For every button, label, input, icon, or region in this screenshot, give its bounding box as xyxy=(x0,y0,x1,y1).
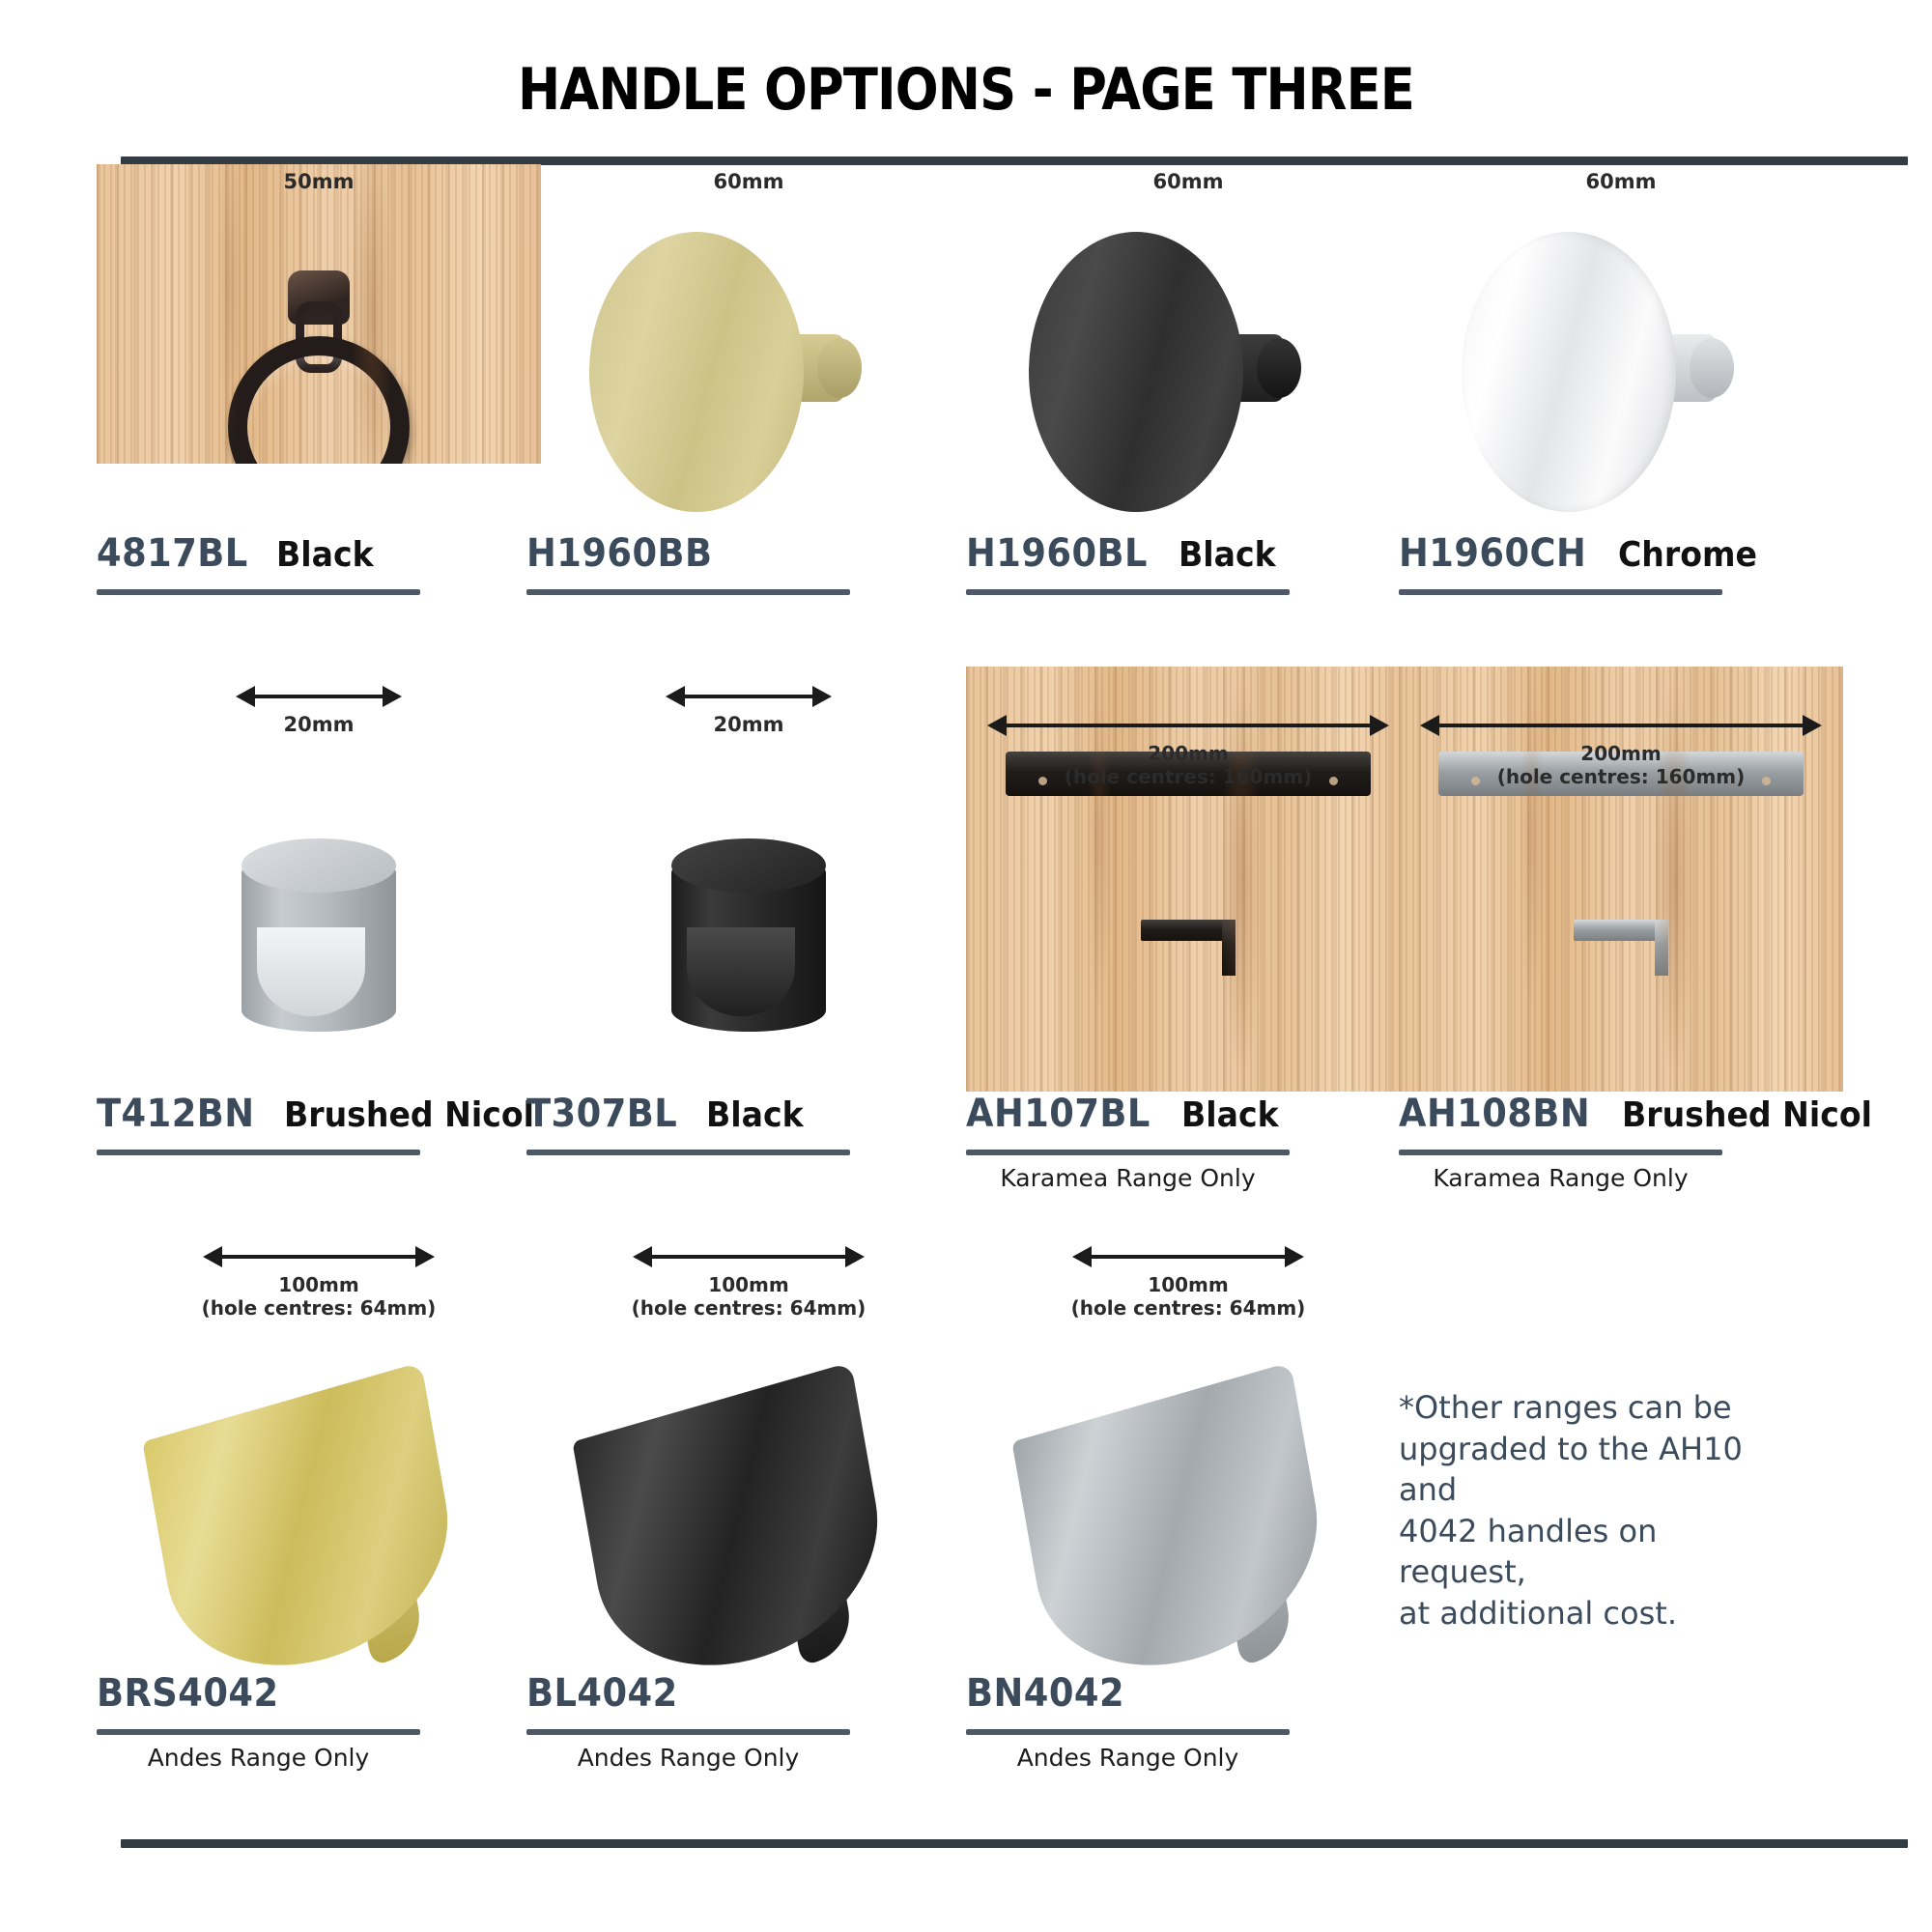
product-photo-h1960bb xyxy=(526,164,971,464)
dimension-label-h1960ch: 60mm xyxy=(1399,170,1843,195)
dimension-label-ah108bn: 200mm (hole centres: 160mm) xyxy=(1399,713,1843,789)
product-row-2: 20mm T412BN Brushed Nicol xyxy=(0,667,1932,1217)
caption-ah108bn: AH108BN Brushed Nicol Karamea Range Only xyxy=(1399,1092,1843,1192)
dimension-arrow-icon xyxy=(203,1244,435,1269)
dimension-arrow-icon xyxy=(1072,1244,1304,1269)
caption-t307bl: T307BL Black xyxy=(526,1092,971,1155)
product-finish: Black xyxy=(1179,535,1276,575)
dimension-label-h1960bl: 60mm xyxy=(966,170,1410,195)
product-photo-bl4042 xyxy=(526,1343,971,1642)
caption-underline xyxy=(526,589,850,595)
caption-h1960bb: H1960BB xyxy=(526,531,971,595)
cup-handle-face xyxy=(142,1362,466,1698)
caption-underline xyxy=(966,1729,1290,1735)
product-photo-4817bl: 50mm xyxy=(97,164,541,464)
caption-underline xyxy=(1399,1150,1722,1155)
disc-knob-stem-end xyxy=(1690,338,1734,398)
product-code: BRS4042 xyxy=(97,1671,279,1716)
cup-handle-graphic xyxy=(589,1401,908,1690)
edge-pull-graphic xyxy=(1141,920,1236,976)
product-photo-ah107bl: 200mm (hole centres: 160mm) xyxy=(966,667,1410,1092)
caption-underline xyxy=(1399,589,1722,595)
product-code: H1960CH xyxy=(1399,531,1586,576)
caption-ah107bl: AH107BL Black Karamea Range Only xyxy=(966,1092,1410,1192)
cup-handle-graphic xyxy=(1029,1401,1348,1690)
ring-pull-graphic xyxy=(237,270,401,464)
dimension-arrow-icon xyxy=(666,684,832,709)
product-card-t412bn[interactable]: 20mm T412BN Brushed Nicol xyxy=(97,667,541,1217)
cup-handle-face xyxy=(1011,1362,1335,1698)
range-note: Andes Range Only xyxy=(526,1744,850,1772)
cylinder-knob-top xyxy=(241,838,396,893)
cylinder-knob-graphic xyxy=(671,838,826,1046)
product-code: BL4042 xyxy=(526,1671,678,1716)
range-note: Karamea Range Only xyxy=(966,1164,1290,1192)
bottom-divider-rule xyxy=(121,1839,1908,1848)
dimension-arrow-icon xyxy=(236,684,402,709)
caption-4817bl: 4817BL Black xyxy=(97,531,541,595)
product-card-h1960ch[interactable]: 60mm H1960CH Chrome xyxy=(1399,164,1843,667)
disc-knob-face xyxy=(589,232,804,512)
product-finish: Black xyxy=(706,1095,804,1135)
ring-pull-ring xyxy=(228,336,410,464)
disc-knob-graphic xyxy=(1462,232,1780,512)
product-photo-ah108bn: 200mm (hole centres: 160mm) xyxy=(1399,667,1843,1092)
caption-brs4042: BRS4042 Andes Range Only xyxy=(97,1671,541,1772)
range-note: Andes Range Only xyxy=(966,1744,1290,1772)
dimension-arrow-icon xyxy=(633,1244,865,1269)
caption-t412bn: T412BN Brushed Nicol xyxy=(97,1092,541,1155)
caption-bl4042: BL4042 Andes Range Only xyxy=(526,1671,971,1772)
product-code: H1960BB xyxy=(526,531,713,576)
product-card-h1960bb[interactable]: 60mm H1960BB xyxy=(526,164,971,667)
disc-knob-stem-end xyxy=(1257,338,1301,398)
dimension-arrow-icon xyxy=(1420,713,1822,738)
dimension-label-bl4042: 100mm (hole centres: 64mm) xyxy=(526,1244,971,1321)
range-note: Andes Range Only xyxy=(97,1744,420,1772)
dimension-label-ah107bl: 200mm (hole centres: 160mm) xyxy=(966,713,1410,789)
caption-h1960ch: H1960CH Chrome xyxy=(1399,531,1843,595)
product-code: AH107BL xyxy=(966,1092,1151,1136)
product-card-t307bl[interactable]: 20mm T307BL Black xyxy=(526,667,971,1217)
edge-pull-graphic xyxy=(1574,920,1668,976)
caption-underline xyxy=(966,589,1290,595)
product-card-4817bl[interactable]: 50mm 4817BL Black xyxy=(97,164,541,667)
product-row-1: 50mm 4817BL Black xyxy=(0,164,1932,667)
product-photo-h1960bl xyxy=(966,164,1410,464)
product-finish: Black xyxy=(1181,1095,1279,1135)
product-code: BN4042 xyxy=(966,1671,1124,1716)
product-finish: Brushed Nicol xyxy=(1622,1095,1872,1135)
product-code: T307BL xyxy=(526,1092,677,1136)
product-code: T412BN xyxy=(97,1092,255,1136)
disc-knob-face xyxy=(1462,232,1676,512)
dimension-label-brs4042: 100mm (hole centres: 64mm) xyxy=(97,1244,541,1321)
dimension-label-4817bl: 50mm xyxy=(97,170,541,195)
product-card-bl4042[interactable]: 100mm (hole centres: 64mm) BL4042 Ande xyxy=(526,1217,971,1816)
disc-knob-graphic xyxy=(589,232,908,512)
product-photo-brs4042 xyxy=(97,1343,541,1642)
caption-h1960bl: H1960BL Black xyxy=(966,531,1410,595)
product-card-brs4042[interactable]: 100mm (hole centres: 64mm) BRS4042 And xyxy=(97,1217,541,1816)
product-photo-t412bn xyxy=(97,781,541,1080)
product-finish: Black xyxy=(276,535,374,575)
dimension-label-bn4042: 100mm (hole centres: 64mm) xyxy=(966,1244,1410,1321)
product-card-ah108bn[interactable]: 200mm (hole centres: 160mm) AH108BN xyxy=(1399,667,1843,1217)
product-code: H1960BL xyxy=(966,531,1148,576)
caption-underline xyxy=(97,1729,420,1735)
product-photo-h1960ch xyxy=(1399,164,1843,464)
disc-knob-stem-end xyxy=(817,338,862,398)
edge-pull-leg xyxy=(1655,920,1668,976)
caption-underline xyxy=(526,1150,850,1155)
dimension-arrow-icon xyxy=(987,713,1389,738)
disc-knob-graphic xyxy=(1029,232,1348,512)
edge-pull-leg xyxy=(1222,920,1236,976)
caption-underline xyxy=(966,1150,1290,1155)
product-photo-bn4042 xyxy=(966,1343,1410,1642)
product-finish: Brushed Nicol xyxy=(284,1095,534,1135)
cylinder-knob-graphic xyxy=(241,838,396,1046)
cylinder-knob-top xyxy=(671,838,826,893)
cup-handle-graphic xyxy=(159,1401,478,1690)
upgrade-footnote: *Other ranges can be upgraded to the AH1… xyxy=(1399,1387,1785,1634)
page-title: HANDLE OPTIONS - PAGE THREE xyxy=(116,56,1816,124)
product-code: AH108BN xyxy=(1399,1092,1590,1136)
product-card-bn4042[interactable]: 100mm (hole centres: 64mm) BN4042 Ande xyxy=(966,1217,1410,1816)
caption-underline xyxy=(526,1729,850,1735)
dimension-label-h1960bb: 60mm xyxy=(526,170,971,195)
range-note: Karamea Range Only xyxy=(1399,1164,1722,1192)
product-photo-t307bl xyxy=(526,781,971,1080)
product-code: 4817BL xyxy=(97,531,248,576)
product-finish: Chrome xyxy=(1618,535,1757,575)
caption-bn4042: BN4042 Andes Range Only xyxy=(966,1671,1410,1772)
caption-underline xyxy=(97,1150,420,1155)
product-card-ah107bl[interactable]: 200mm (hole centres: 160mm) AH107BL xyxy=(966,667,1410,1217)
caption-underline xyxy=(97,589,420,595)
cup-handle-face xyxy=(572,1362,895,1698)
disc-knob-face xyxy=(1029,232,1243,512)
product-card-h1960bl[interactable]: 60mm H1960BL Black xyxy=(966,164,1410,667)
dimension-label-t412bn: 20mm xyxy=(97,684,541,738)
dimension-label-t307bl: 20mm xyxy=(526,684,971,738)
handle-options-page: HANDLE OPTIONS - PAGE THREE 50mm xyxy=(0,0,1932,1932)
